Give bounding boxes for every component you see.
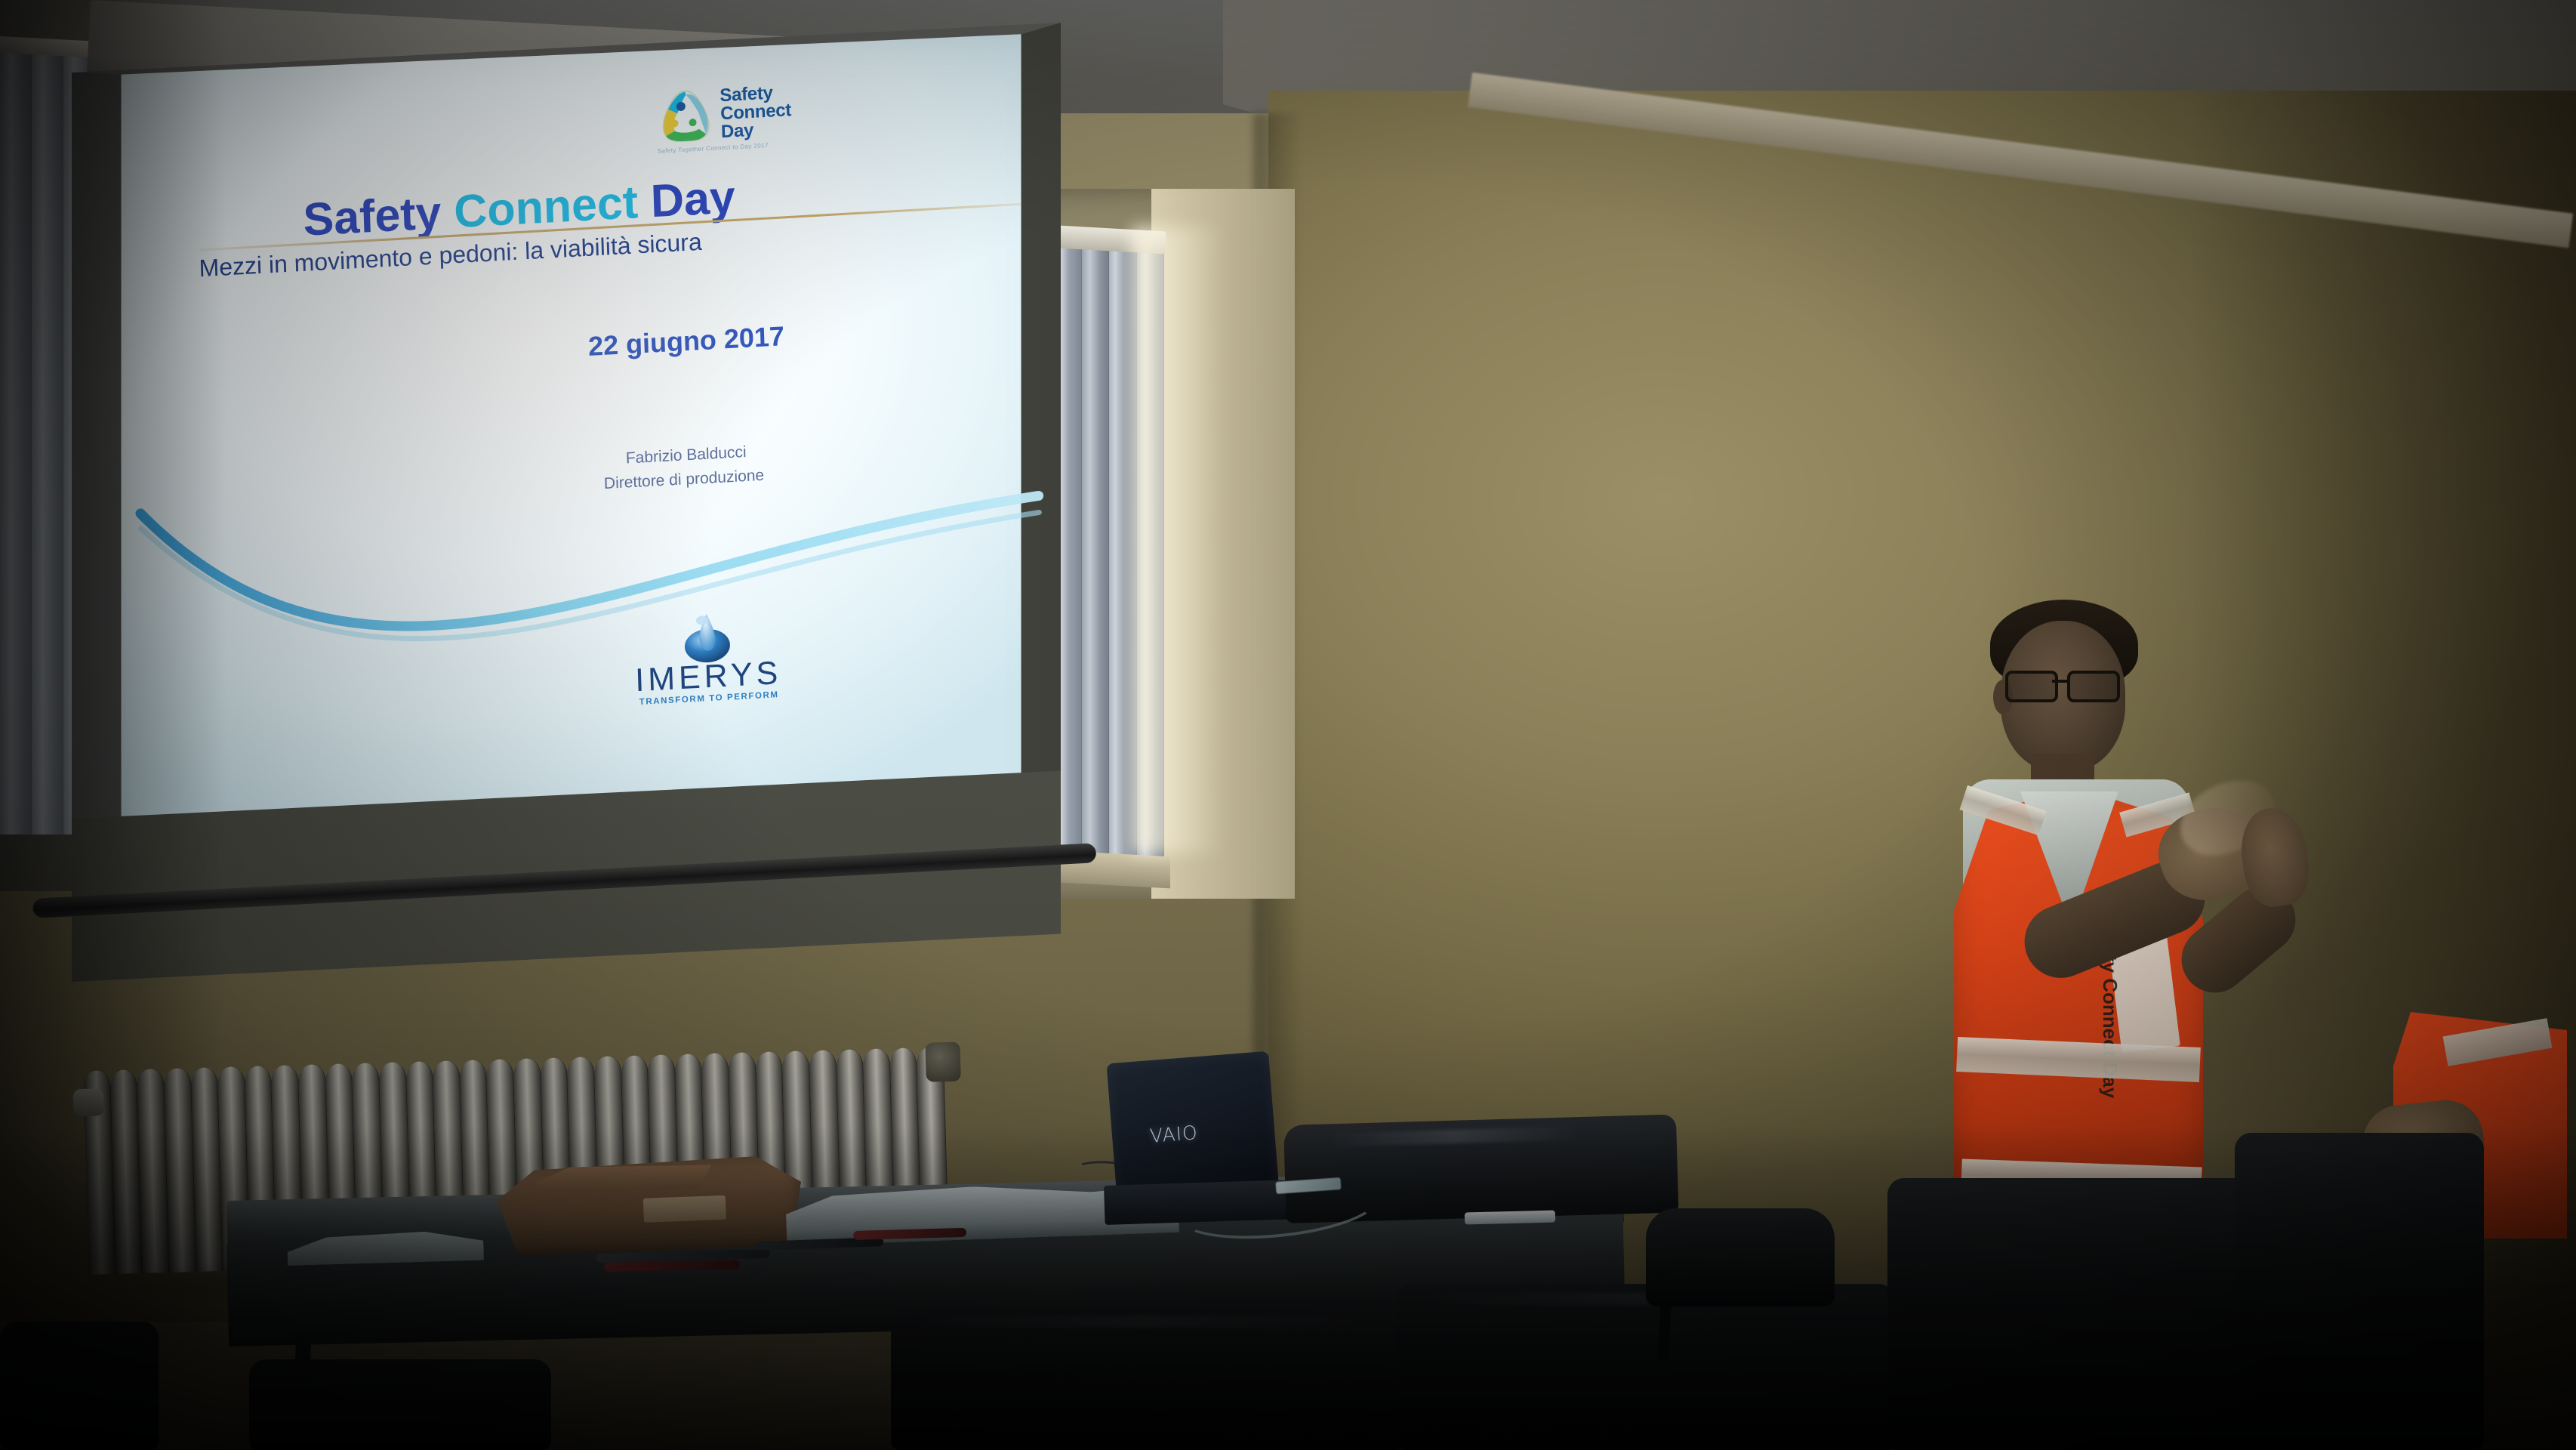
glasses-lens-left [2005, 671, 2058, 702]
slide-content: Safety Connect Day Safety Together Conne… [126, 20, 1047, 808]
glasses-bridge [2052, 680, 2069, 683]
projection-screen: Safety Connect Day Safety Together Conne… [72, 23, 1061, 982]
safety-connect-day-wordmark: Safety Connect Day [719, 83, 792, 141]
title-part-day: Day [650, 171, 736, 227]
blind-slat [32, 42, 63, 835]
window-daylight-glow [1132, 227, 1223, 853]
chair [1397, 1284, 1895, 1450]
blind-slat [0, 42, 32, 835]
laptop-brand-logo: VAIO [1149, 1121, 1199, 1147]
presenter-glasses [2005, 671, 2132, 696]
chair [2235, 1133, 2484, 1450]
radiator-valve [925, 1042, 960, 1082]
glasses-lens-right [2067, 671, 2120, 702]
presentation-room-photo: Safety Connect Day Safety Together Conne… [0, 0, 2576, 1450]
chair [0, 1322, 159, 1450]
safety-connect-day-logo: Safety Connect Day [655, 78, 819, 148]
slide-author: Fabrizio Balducci [626, 443, 747, 468]
box-label [643, 1195, 726, 1222]
imerys-logo: IMERYS TRANSFORM TO PERFORM [612, 603, 804, 708]
radiator-end-cap [73, 1088, 104, 1116]
blind-slat [1082, 240, 1109, 868]
chair [1646, 1208, 1835, 1307]
imerys-wordmark: IMERYS [635, 659, 782, 696]
slide-author-role: Direttore di produzione [604, 467, 765, 493]
chair [891, 1307, 1404, 1450]
white-object-on-table [1465, 1211, 1555, 1225]
safety-connect-day-mark-icon [655, 87, 716, 146]
slide-date: 22 giugno 2017 [587, 320, 784, 362]
cardboard-box [483, 1155, 803, 1257]
chair [1887, 1178, 2280, 1450]
chair [249, 1359, 551, 1450]
logo-line-3: Day [721, 119, 793, 141]
slide-swoosh-graphic [132, 443, 1052, 733]
chair-highlight [906, 1316, 1374, 1328]
